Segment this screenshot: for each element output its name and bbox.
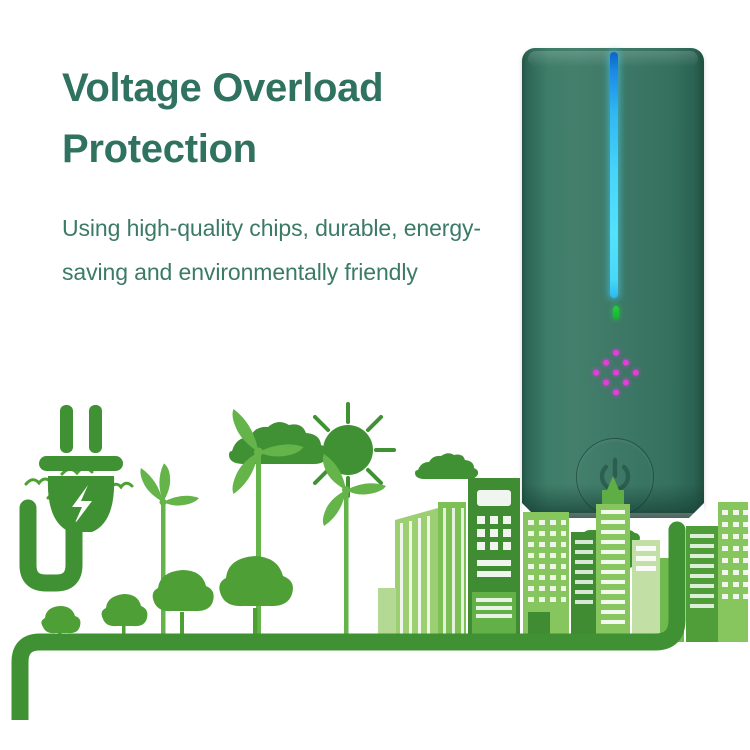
building-icon [718, 502, 748, 642]
wind-turbine-icon [140, 463, 199, 642]
eco-city-illustration [0, 390, 750, 720]
page-title: Voltage Overload Protection [62, 58, 502, 180]
wind-turbine-icon [323, 454, 386, 642]
building-icon [571, 532, 597, 642]
cloud-icon [415, 453, 478, 479]
tree-icon [219, 556, 293, 642]
power-plug-icon [28, 405, 123, 583]
page-subtitle: Using high-quality chips, durable, energ… [62, 180, 502, 296]
building-icon [468, 478, 520, 642]
building-icon [596, 476, 630, 642]
building-icon [523, 512, 569, 642]
building-icon [632, 540, 660, 642]
uv-light-strip-indicator [610, 52, 618, 298]
building-icon [438, 502, 466, 642]
power-status-led-icon [613, 306, 619, 319]
product-poster: Voltage Overload Protection Using high-q… [0, 0, 750, 750]
building-icon [686, 526, 718, 642]
copy-block: Voltage Overload Protection Using high-q… [62, 58, 502, 295]
building-icon [395, 508, 438, 642]
